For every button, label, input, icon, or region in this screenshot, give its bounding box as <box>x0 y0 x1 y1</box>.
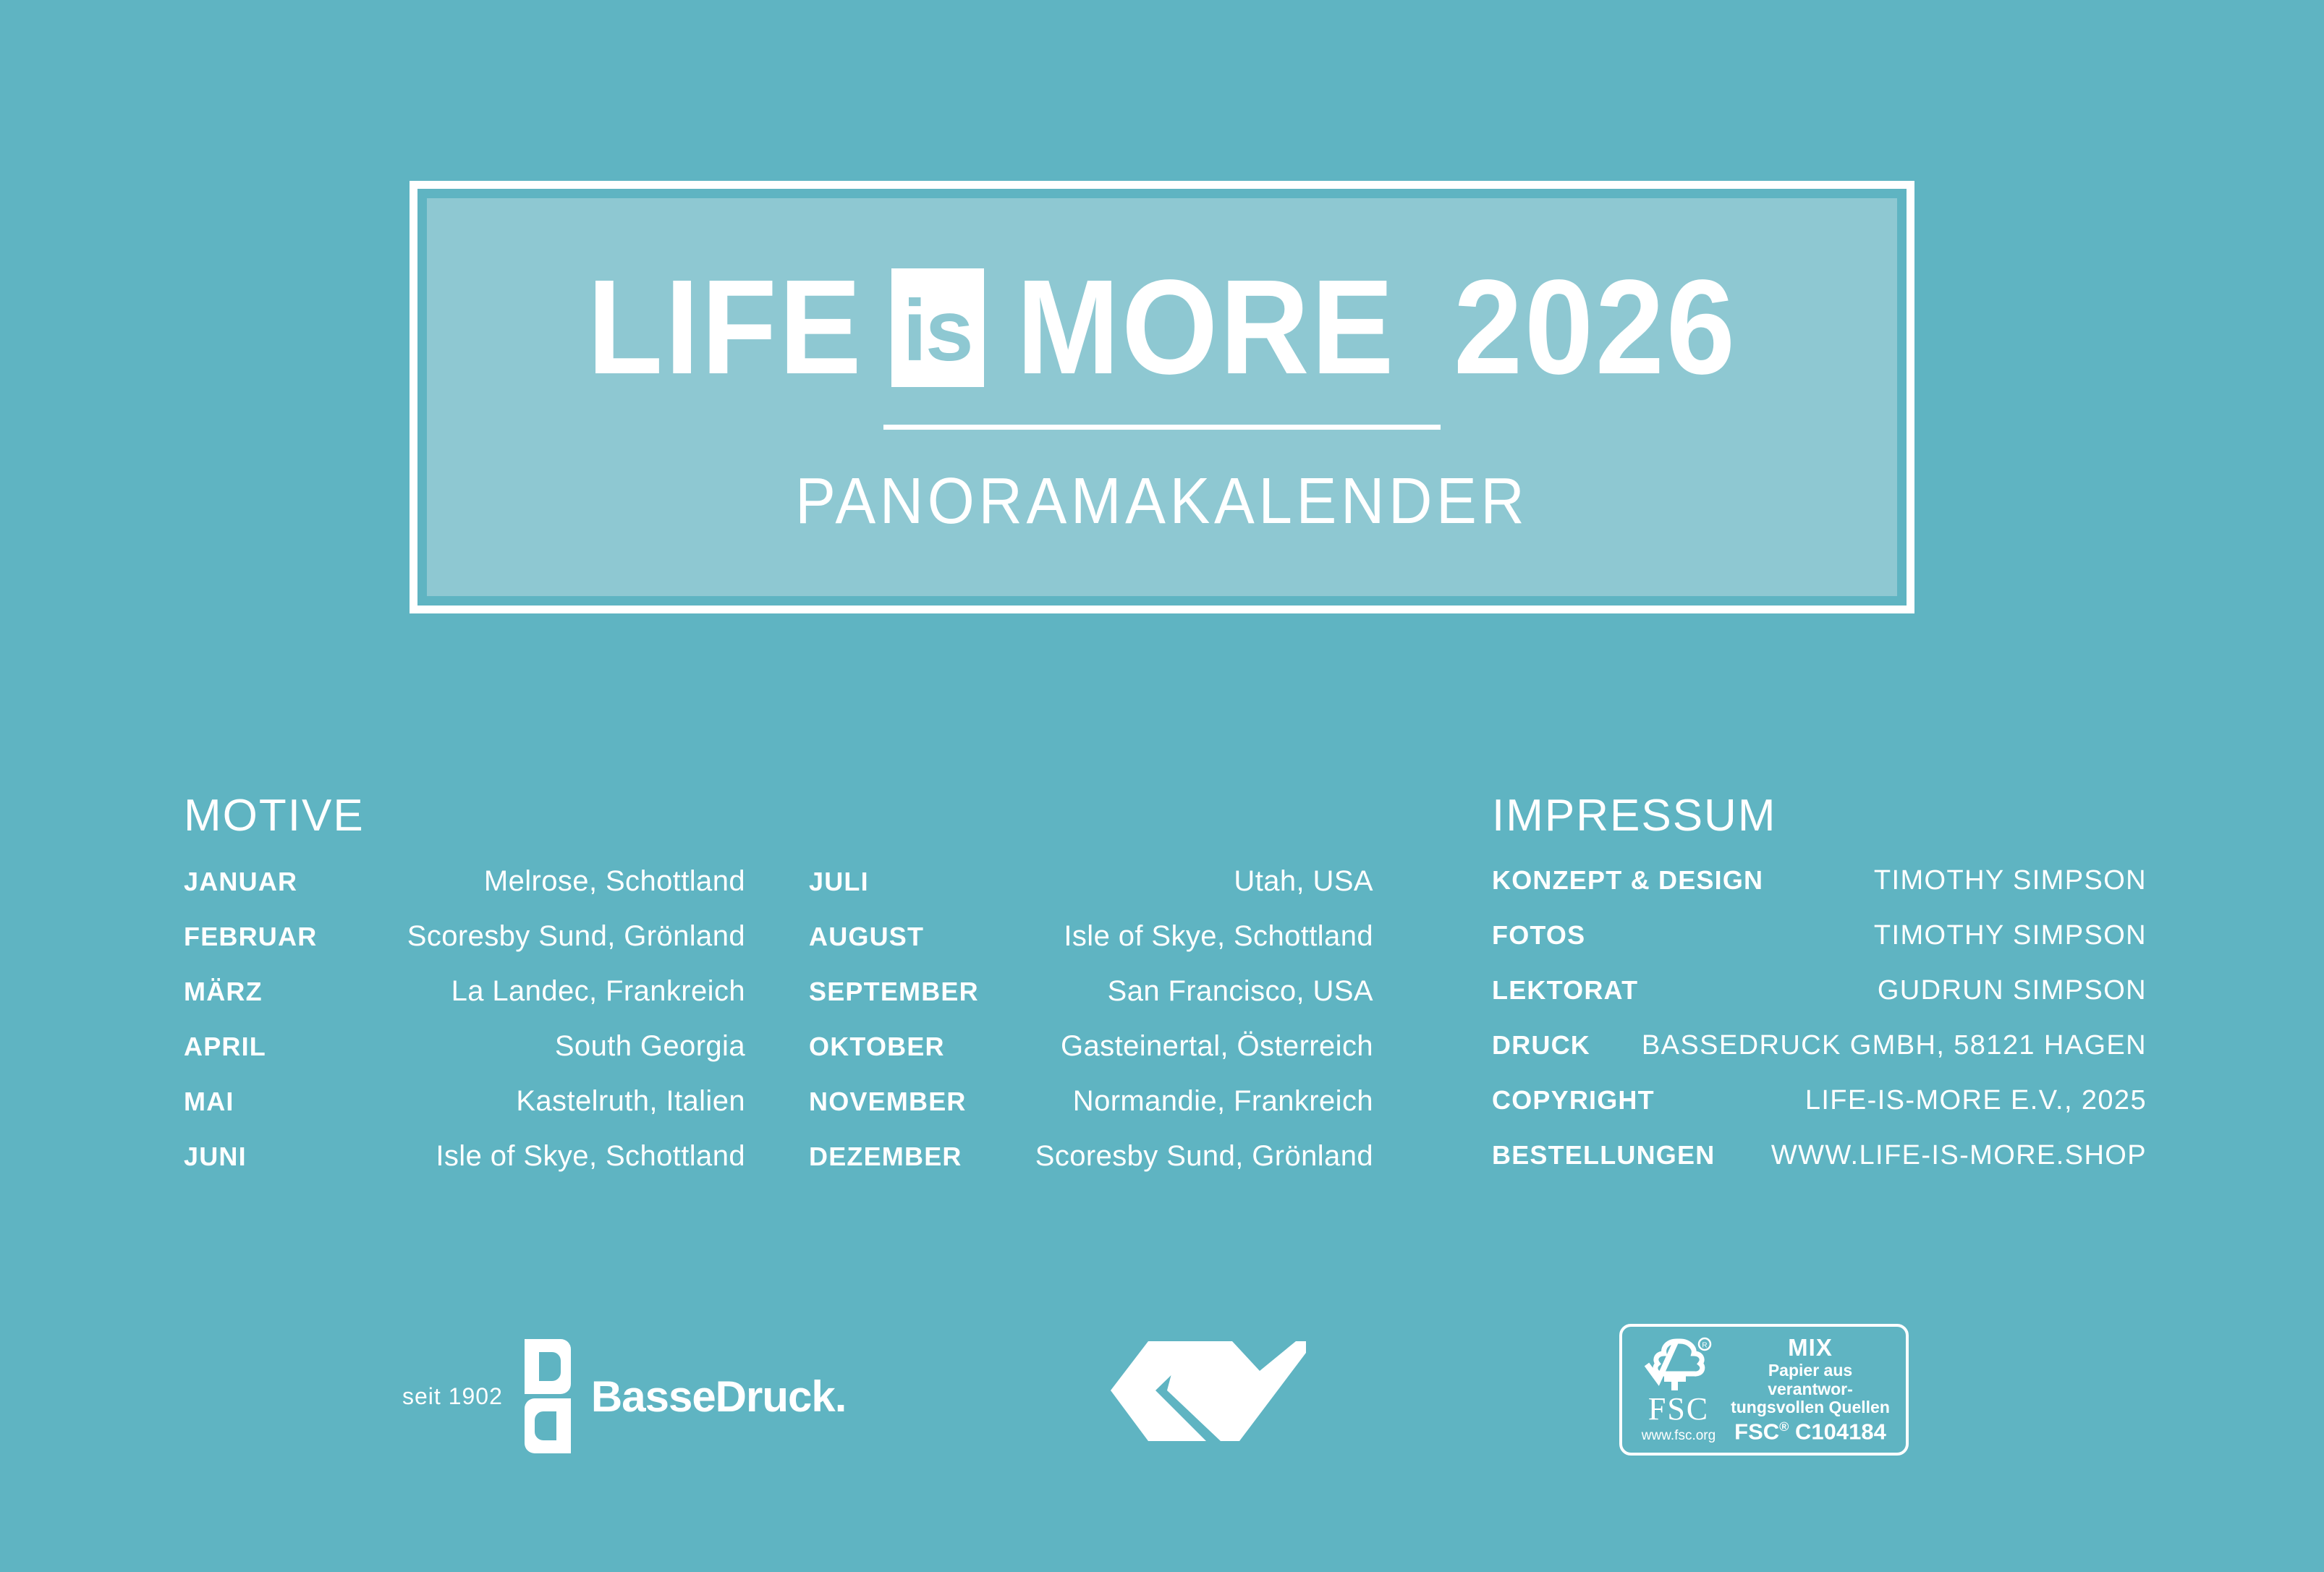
fsc-text-block: MIX Papier aus verantwor- tungsvollen Qu… <box>1725 1335 1896 1445</box>
impressum-row: FOTOS TIMOTHY SIMPSON <box>1492 920 2147 975</box>
location-value: Utah, USA <box>1234 865 1373 898</box>
impressum-label: BESTELLUNGEN <box>1492 1140 1715 1170</box>
location-value: Isle of Skye, Schottland <box>1064 920 1373 953</box>
month-label: SEPTEMBER <box>809 977 979 1007</box>
fsc-code-number: C104184 <box>1789 1419 1886 1444</box>
impressum-row: KONZEPT & DESIGN TIMOTHY SIMPSON <box>1492 865 2147 920</box>
month-label: MAI <box>184 1087 234 1117</box>
motive-heading: MOTIVE <box>184 790 365 841</box>
month-label: FEBRUAR <box>184 922 317 952</box>
month-label: NOVEMBER <box>809 1087 967 1117</box>
motive-row: AUGUST Isle of Skye, Schottland <box>809 920 1373 975</box>
footer-logo-row: seit 1902 BasseDruck. <box>0 1317 2324 1490</box>
motive-row: APRIL South Georgia <box>184 1030 745 1085</box>
fsc-description-line-2: tungsvollen Quellen <box>1725 1398 1896 1417</box>
location-value: Scoresby Sund, Grönland <box>407 920 745 953</box>
motive-row: JANUAR Melrose, Schottland <box>184 865 745 920</box>
title-word-life: LIFE <box>587 270 863 386</box>
motive-row: NOVEMBER Normandie, Frankreich <box>809 1085 1373 1140</box>
impressum-label: DRUCK <box>1492 1030 1590 1061</box>
title-divider <box>883 425 1441 430</box>
motive-row: MÄRZ La Landec, Frankreich <box>184 975 745 1030</box>
impressum-value: TIMOTHY SIMPSON <box>1874 920 2147 951</box>
month-label: APRIL <box>184 1032 266 1062</box>
fsc-mix-label: MIX <box>1725 1335 1896 1361</box>
impressum-label: KONZEPT & DESIGN <box>1492 865 1763 896</box>
month-label: JANUAR <box>184 867 297 897</box>
impressum-column: KONZEPT & DESIGN TIMOTHY SIMPSON FOTOS T… <box>1492 865 2147 1195</box>
impressum-value: LIFE-IS-MORE E.V., 2025 <box>1805 1085 2147 1116</box>
impressum-value: GUDRUN SIMPSON <box>1878 975 2147 1006</box>
impressum-value[interactable]: WWW.LIFE-IS-MORE.SHOP <box>1771 1140 2147 1171</box>
impressum-value: BASSEDRUCK GMBH, 58121 HAGEN <box>1642 1030 2147 1061</box>
title-word-more: MORE <box>1016 270 1395 386</box>
impressum-label: COPYRIGHT <box>1492 1085 1655 1116</box>
impressum-row: BESTELLUNGEN WWW.LIFE-IS-MORE.SHOP <box>1492 1140 2147 1195</box>
title-year: 2026 <box>1454 270 1737 386</box>
month-label: OKTOBER <box>809 1032 945 1062</box>
fsc-tree-checkmark-icon: R <box>1641 1335 1716 1392</box>
motive-row: OKTOBER Gasteinertal, Österreich <box>809 1030 1373 1085</box>
motive-column-second-half: JULI Utah, USA AUGUST Isle of Skye, Scho… <box>809 865 1373 1195</box>
location-value: Normandie, Frankreich <box>1073 1085 1373 1118</box>
fsc-license-code: FSC® C104184 <box>1725 1419 1896 1445</box>
title-panel: LIFE is MORE 2026 PANORAMAKALENDER <box>427 198 1897 596</box>
impressum-heading: IMPRESSUM <box>1492 790 1776 841</box>
fsc-logo-block: R FSC www.fsc.org <box>1632 1335 1725 1444</box>
motive-row: JUNI Isle of Skye, Schottland <box>184 1140 745 1195</box>
motive-column-first-half: JANUAR Melrose, Schottland FEBRUAR Score… <box>184 865 745 1195</box>
impressum-label: FOTOS <box>1492 920 1585 951</box>
location-value: Melrose, Schottland <box>484 865 745 898</box>
motive-row: JULI Utah, USA <box>809 865 1373 920</box>
bassedruck-wordmark: BasseDruck. <box>591 1372 847 1422</box>
impressum-row: DRUCK BASSEDRUCK GMBH, 58121 HAGEN <box>1492 1030 2147 1085</box>
motive-row: MAI Kastelruth, Italien <box>184 1085 745 1140</box>
registered-mark-icon: ® <box>1779 1419 1789 1434</box>
location-value: Scoresby Sund, Grönland <box>1035 1140 1373 1173</box>
impressum-row: LEKTORAT GUDRUN SIMPSON <box>1492 975 2147 1030</box>
fsc-code-prefix: FSC <box>1734 1419 1779 1444</box>
bassedruck-logo: seit 1902 BasseDruck. <box>402 1324 846 1469</box>
location-value: South Georgia <box>555 1030 745 1063</box>
month-label: JULI <box>809 867 869 897</box>
month-label: AUGUST <box>809 922 924 952</box>
impressum-value: TIMOTHY SIMPSON <box>1874 865 2147 896</box>
bassedruck-bd-monogram-icon <box>525 1339 571 1453</box>
fsc-website-url[interactable]: www.fsc.org <box>1642 1428 1716 1444</box>
fsc-certification-label: R FSC www.fsc.org MIX Papier aus verantw… <box>1619 1324 1909 1456</box>
title-frame: LIFE is MORE 2026 PANORAMAKALENDER <box>410 181 1914 613</box>
motive-row: FEBRUAR Scoresby Sund, Grönland <box>184 920 745 975</box>
fsc-abbreviation: FSC <box>1648 1393 1709 1425</box>
bassedruck-since-label: seit 1902 <box>402 1383 503 1410</box>
location-value: Isle of Skye, Schottland <box>436 1140 745 1173</box>
impressum-label: LEKTORAT <box>1492 975 1638 1006</box>
motive-row: DEZEMBER Scoresby Sund, Grönland <box>809 1140 1373 1195</box>
calendar-back-cover: LIFE is MORE 2026 PANORAMAKALENDER MOTIV… <box>0 0 2324 1572</box>
location-value: Kastelruth, Italien <box>516 1085 745 1118</box>
month-label: DEZEMBER <box>809 1142 962 1172</box>
location-value: San Francisco, USA <box>1108 975 1373 1008</box>
month-label: MÄRZ <box>184 977 263 1007</box>
title-is-badge: is <box>891 268 984 387</box>
month-label: JUNI <box>184 1142 247 1172</box>
location-value: La Landec, Frankreich <box>451 975 745 1008</box>
location-value: Gasteinertal, Österreich <box>1061 1030 1373 1063</box>
impressum-row: COPYRIGHT LIFE-IS-MORE E.V., 2025 <box>1492 1085 2147 1140</box>
title-lockup: LIFE is MORE 2026 <box>575 268 1750 387</box>
svg-text:R: R <box>1702 1342 1707 1350</box>
fsc-description-line-1: Papier aus verantwor- <box>1725 1361 1896 1399</box>
chevron-check-logo-icon <box>1111 1337 1306 1449</box>
motive-row: SEPTEMBER San Francisco, USA <box>809 975 1373 1030</box>
title-subtitle: PANORAMAKALENDER <box>795 464 1528 539</box>
